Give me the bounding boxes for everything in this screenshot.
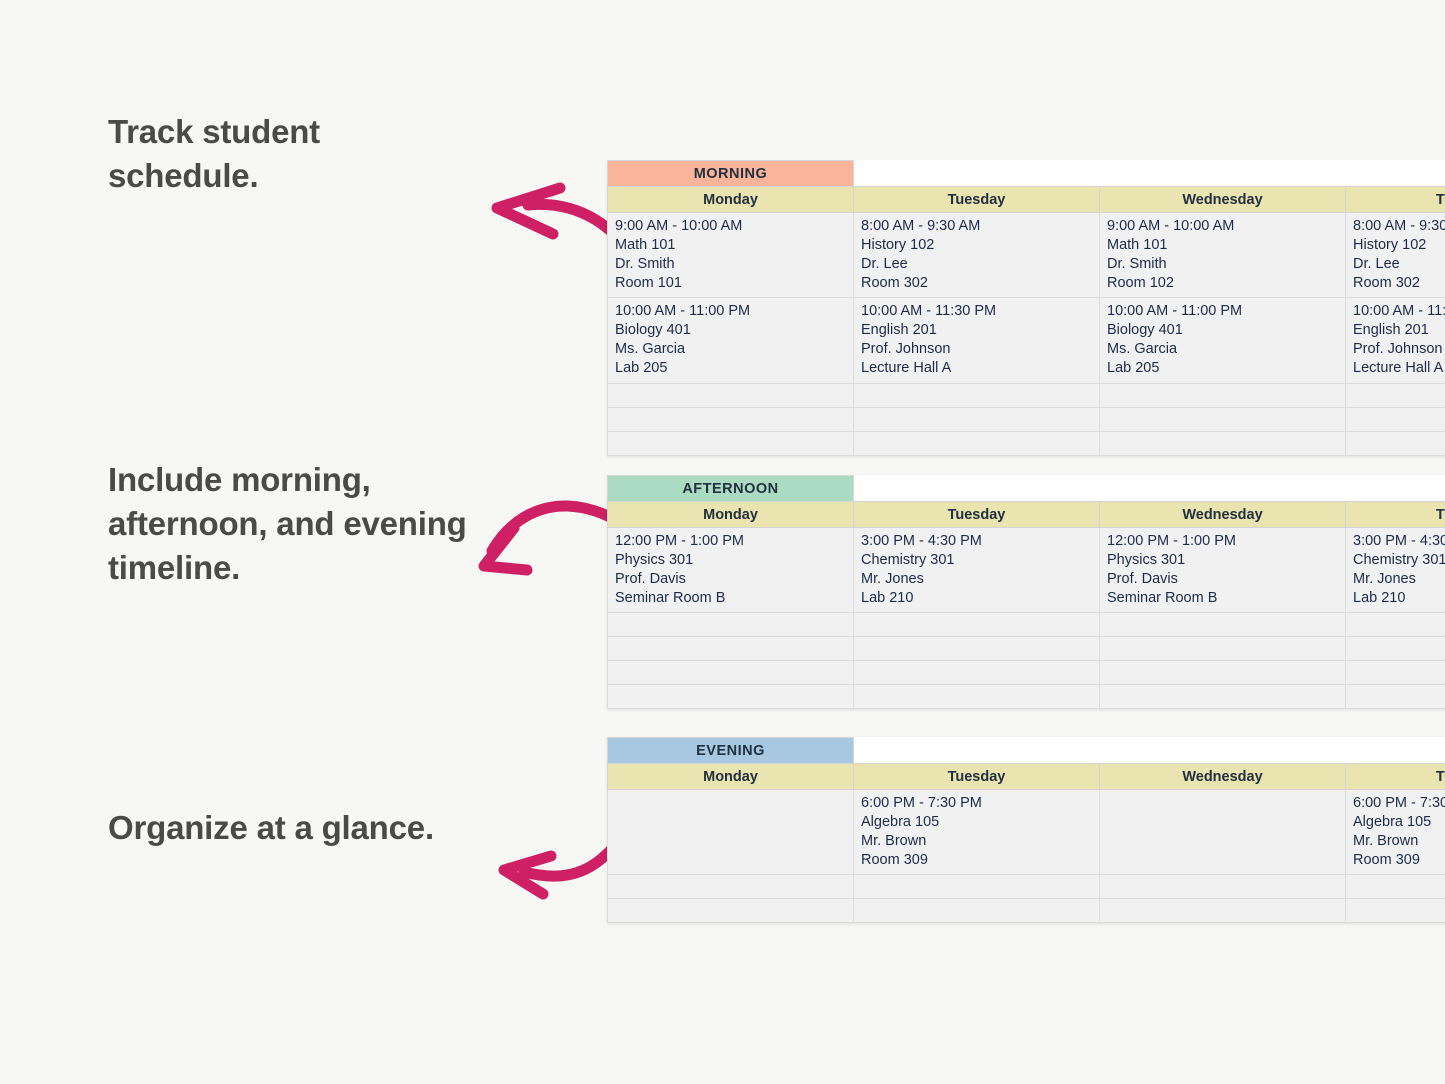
- table-row-empty: [608, 685, 1445, 709]
- band-spacer: [854, 161, 1445, 187]
- schedule-cell-empty-thursday[interactable]: [1346, 613, 1445, 637]
- table-row: 10:00 AM - 11:00 PMBiology 401Ms. Garcia…: [608, 298, 1445, 383]
- cell-course: Chemistry 301: [861, 551, 1092, 570]
- day-header-thursday[interactable]: Thursday: [1346, 502, 1445, 528]
- schedule-cell-empty-thursday[interactable]: [1346, 637, 1445, 661]
- cell-room: Lab 210: [861, 589, 1092, 608]
- table-row: 12:00 PM - 1:00 PMPhysics 301Prof. Davis…: [608, 528, 1445, 613]
- cell-time: 10:00 AM - 11:00 PM: [615, 302, 846, 321]
- cell-course: History 102: [861, 236, 1092, 255]
- schedule-cell-wednesday[interactable]: 9:00 AM - 10:00 AMMath 101Dr. SmithRoom …: [1100, 213, 1346, 298]
- band-spacer: [854, 738, 1445, 764]
- schedule-cell-empty-tuesday[interactable]: [854, 383, 1100, 407]
- cell-teacher: Dr. Smith: [1107, 255, 1338, 274]
- cell-time: 9:00 AM - 10:00 AM: [615, 217, 846, 236]
- caption-track-student-schedule: Track student schedule.: [108, 110, 468, 198]
- cell-teacher: Ms. Garcia: [615, 340, 846, 359]
- cell-time: 10:00 AM - 11:30 PM: [861, 302, 1092, 321]
- band-label-evening: EVENING: [608, 738, 854, 764]
- cell-time: 3:00 PM - 4:30 PM: [861, 532, 1092, 551]
- table-row: 6:00 PM - 7:30 PMAlgebra 105Mr. BrownRoo…: [608, 790, 1445, 875]
- schedule-section-afternoon[interactable]: AFTERNOONMondayTuesdayWednesdayThursday1…: [607, 475, 1445, 709]
- table-row-empty: [608, 875, 1445, 899]
- cell-teacher: Prof. Johnson: [1353, 340, 1445, 359]
- cell-course: English 201: [861, 321, 1092, 340]
- table-row-empty: [608, 899, 1445, 923]
- cell-time: 6:00 PM - 7:30 PM: [861, 794, 1092, 813]
- schedule-cell-thursday[interactable]: 10:00 AM - 11:30 PMEnglish 201Prof. John…: [1346, 298, 1445, 383]
- band-label-afternoon: AFTERNOON: [608, 476, 854, 502]
- schedule-cell-empty-thursday[interactable]: [1346, 875, 1445, 899]
- cell-room: Room 302: [1353, 274, 1445, 293]
- schedule-cell-empty-wednesday[interactable]: [1100, 661, 1346, 685]
- cell-course: Biology 401: [1107, 321, 1338, 340]
- day-header-monday[interactable]: Monday: [608, 502, 854, 528]
- schedule-cell-empty-wednesday[interactable]: [1100, 613, 1346, 637]
- day-header-wednesday[interactable]: Wednesday: [1100, 764, 1346, 790]
- cell-time: 12:00 PM - 1:00 PM: [615, 532, 846, 551]
- cell-course: Physics 301: [615, 551, 846, 570]
- caption-organize-at-a-glance: Organize at a glance.: [108, 806, 468, 850]
- cell-room: Lecture Hall A: [861, 359, 1092, 378]
- schedule-cell-thursday[interactable]: 8:00 AM - 9:30 AMHistory 102Dr. LeeRoom …: [1346, 213, 1445, 298]
- day-header-tuesday[interactable]: Tuesday: [854, 764, 1100, 790]
- band-row: EVENING: [608, 738, 1445, 764]
- schedule-cell-empty-tuesday[interactable]: [854, 899, 1100, 923]
- schedule-table-afternoon[interactable]: AFTERNOONMondayTuesdayWednesdayThursday1…: [607, 475, 1445, 709]
- schedule-cell-empty-tuesday[interactable]: [854, 637, 1100, 661]
- caption-include-timeline: Include morning, afternoon, and evening …: [108, 458, 468, 590]
- cell-time: 8:00 AM - 9:30 AM: [861, 217, 1092, 236]
- day-header-wednesday[interactable]: Wednesday: [1100, 187, 1346, 213]
- schedule-cell-empty-tuesday[interactable]: [854, 685, 1100, 709]
- cell-room: Seminar Room B: [615, 589, 846, 608]
- cell-time: 12:00 PM - 1:00 PM: [1107, 532, 1338, 551]
- cell-teacher: Prof. Davis: [1107, 570, 1338, 589]
- cell-time: 9:00 AM - 10:00 AM: [1107, 217, 1338, 236]
- cell-room: Room 309: [861, 851, 1092, 870]
- table-row-empty: [608, 383, 1445, 407]
- day-header-tuesday[interactable]: Tuesday: [854, 502, 1100, 528]
- cell-teacher: Dr. Lee: [861, 255, 1092, 274]
- schedule-table-evening[interactable]: EVENINGMondayTuesdayWednesdayThursday6:0…: [607, 737, 1445, 923]
- schedule-cell-empty-monday[interactable]: [608, 899, 854, 923]
- schedule-section-evening[interactable]: EVENINGMondayTuesdayWednesdayThursday6:0…: [607, 737, 1445, 923]
- schedule-cell-empty-thursday[interactable]: [1346, 383, 1445, 407]
- schedule-cell-empty-monday[interactable]: [608, 613, 854, 637]
- cell-time: 8:00 AM - 9:30 AM: [1353, 217, 1445, 236]
- table-row: 9:00 AM - 10:00 AMMath 101Dr. SmithRoom …: [608, 213, 1445, 298]
- schedule-cell-tuesday[interactable]: 8:00 AM - 9:30 AMHistory 102Dr. LeeRoom …: [854, 213, 1100, 298]
- schedule-cell-empty-wednesday[interactable]: [1100, 637, 1346, 661]
- band-spacer: [854, 476, 1445, 502]
- cell-time: 10:00 AM - 11:00 PM: [1107, 302, 1338, 321]
- schedule-cell-tuesday[interactable]: 3:00 PM - 4:30 PMChemistry 301Mr. JonesL…: [854, 528, 1100, 613]
- table-row-empty: [608, 613, 1445, 637]
- schedule-cell-empty-tuesday[interactable]: [854, 613, 1100, 637]
- day-header-monday[interactable]: Monday: [608, 187, 854, 213]
- table-row-empty: [608, 661, 1445, 685]
- cell-room: Room 309: [1353, 851, 1445, 870]
- cell-teacher: Dr. Smith: [615, 255, 846, 274]
- schedule-cell-thursday[interactable]: 6:00 PM - 7:30 PMAlgebra 105Mr. BrownRoo…: [1346, 790, 1445, 875]
- schedule-table-morning[interactable]: MORNINGMondayTuesdayWednesdayThursday9:0…: [607, 160, 1445, 456]
- schedule-cell-empty-thursday[interactable]: [1346, 899, 1445, 923]
- schedule-cell-tuesday[interactable]: 6:00 PM - 7:30 PMAlgebra 105Mr. BrownRoo…: [854, 790, 1100, 875]
- cell-course: Physics 301: [1107, 551, 1338, 570]
- cell-course: English 201: [1353, 321, 1445, 340]
- schedule-cell-empty-wednesday[interactable]: [1100, 685, 1346, 709]
- cell-teacher: Prof. Johnson: [861, 340, 1092, 359]
- schedule-cell-empty-monday[interactable]: [608, 431, 854, 455]
- cell-course: Biology 401: [615, 321, 846, 340]
- cell-room: Lab 205: [615, 359, 846, 378]
- cell-teacher: Dr. Lee: [1353, 255, 1445, 274]
- cell-teacher: Ms. Garcia: [1107, 340, 1338, 359]
- day-header-thursday[interactable]: Thursday: [1346, 764, 1445, 790]
- cell-room: Seminar Room B: [1107, 589, 1338, 608]
- cell-teacher: Mr. Jones: [1353, 570, 1445, 589]
- schedule-cell-empty-tuesday[interactable]: [854, 661, 1100, 685]
- day-header-thursday[interactable]: Thursday: [1346, 187, 1445, 213]
- band-row: AFTERNOON: [608, 476, 1445, 502]
- cell-teacher: Mr. Jones: [861, 570, 1092, 589]
- schedule-cell-tuesday[interactable]: 10:00 AM - 11:30 PMEnglish 201Prof. John…: [854, 298, 1100, 383]
- schedule-cell-empty-wednesday[interactable]: [1100, 875, 1346, 899]
- cell-room: Room 102: [1107, 274, 1338, 293]
- schedule-cell-empty-monday[interactable]: [608, 685, 854, 709]
- cell-teacher: Prof. Davis: [615, 570, 846, 589]
- day-header-wednesday[interactable]: Wednesday: [1100, 502, 1346, 528]
- schedule-cell-empty-wednesday[interactable]: [1100, 431, 1346, 455]
- schedule-cell-monday[interactable]: 12:00 PM - 1:00 PMPhysics 301Prof. Davis…: [608, 528, 854, 613]
- cell-room: Room 302: [861, 274, 1092, 293]
- schedule-cell-empty-thursday[interactable]: [1346, 407, 1445, 431]
- table-row-empty: [608, 637, 1445, 661]
- table-row-empty: [608, 407, 1445, 431]
- schedule-cell-wednesday[interactable]: 12:00 PM - 1:00 PMPhysics 301Prof. Davis…: [1100, 528, 1346, 613]
- schedule-cell-empty-wednesday[interactable]: [1100, 407, 1346, 431]
- schedule-cell-thursday[interactable]: 3:00 PM - 4:30 PMChemistry 301Mr. JonesL…: [1346, 528, 1445, 613]
- schedule-cell-empty-monday[interactable]: [608, 875, 854, 899]
- schedule-cell-empty-monday[interactable]: [608, 661, 854, 685]
- day-header-tuesday[interactable]: Tuesday: [854, 187, 1100, 213]
- cell-time: 3:00 PM - 4:30 PM: [1353, 532, 1445, 551]
- schedule-cell-empty-thursday[interactable]: [1346, 431, 1445, 455]
- cell-room: Lab 210: [1353, 589, 1445, 608]
- day-header-row: MondayTuesdayWednesdayThursday: [608, 187, 1445, 213]
- cell-course: Algebra 105: [861, 813, 1092, 832]
- schedule-cell-empty-monday[interactable]: [608, 383, 854, 407]
- cell-time: 6:00 PM - 7:30 PM: [1353, 794, 1445, 813]
- schedule-cell-empty-wednesday[interactable]: [1100, 383, 1346, 407]
- cell-room: Lab 205: [1107, 359, 1338, 378]
- schedule-cell-empty-tuesday[interactable]: [854, 875, 1100, 899]
- schedule-cell-empty-thursday[interactable]: [1346, 661, 1445, 685]
- schedule-cell-wednesday[interactable]: [1100, 790, 1346, 875]
- day-header-row: MondayTuesdayWednesdayThursday: [608, 764, 1445, 790]
- schedule-cell-empty-tuesday[interactable]: [854, 407, 1100, 431]
- day-header-row: MondayTuesdayWednesdayThursday: [608, 502, 1445, 528]
- schedule-cell-empty-monday[interactable]: [608, 407, 854, 431]
- schedule-cell-empty-monday[interactable]: [608, 637, 854, 661]
- band-label-morning: MORNING: [608, 161, 854, 187]
- schedule-cell-empty-wednesday[interactable]: [1100, 899, 1346, 923]
- table-row-empty: [608, 431, 1445, 455]
- table-body: EVENINGMondayTuesdayWednesdayThursday6:0…: [608, 738, 1445, 923]
- schedule-cell-empty-thursday[interactable]: [1346, 685, 1445, 709]
- cell-course: History 102: [1353, 236, 1445, 255]
- table-body: AFTERNOONMondayTuesdayWednesdayThursday1…: [608, 476, 1445, 709]
- cell-course: Algebra 105: [1353, 813, 1445, 832]
- schedule-cell-monday[interactable]: [608, 790, 854, 875]
- schedule-cell-empty-tuesday[interactable]: [854, 431, 1100, 455]
- band-row: MORNING: [608, 161, 1445, 187]
- cell-course: Chemistry 301: [1353, 551, 1445, 570]
- schedule-cell-monday[interactable]: 9:00 AM - 10:00 AMMath 101Dr. SmithRoom …: [608, 213, 854, 298]
- schedule-cell-monday[interactable]: 10:00 AM - 11:00 PMBiology 401Ms. Garcia…: [608, 298, 854, 383]
- cell-time: 10:00 AM - 11:30 PM: [1353, 302, 1445, 321]
- table-body: MORNINGMondayTuesdayWednesdayThursday9:0…: [608, 161, 1445, 456]
- cell-room: Lecture Hall A: [1353, 359, 1445, 378]
- cell-course: Math 101: [615, 236, 846, 255]
- cell-room: Room 101: [615, 274, 846, 293]
- schedule-cell-wednesday[interactable]: 10:00 AM - 11:00 PMBiology 401Ms. Garcia…: [1100, 298, 1346, 383]
- day-header-monday[interactable]: Monday: [608, 764, 854, 790]
- cell-teacher: Mr. Brown: [861, 832, 1092, 851]
- schedule-section-morning[interactable]: MORNINGMondayTuesdayWednesdayThursday9:0…: [607, 160, 1445, 456]
- cell-teacher: Mr. Brown: [1353, 832, 1445, 851]
- cell-course: Math 101: [1107, 236, 1338, 255]
